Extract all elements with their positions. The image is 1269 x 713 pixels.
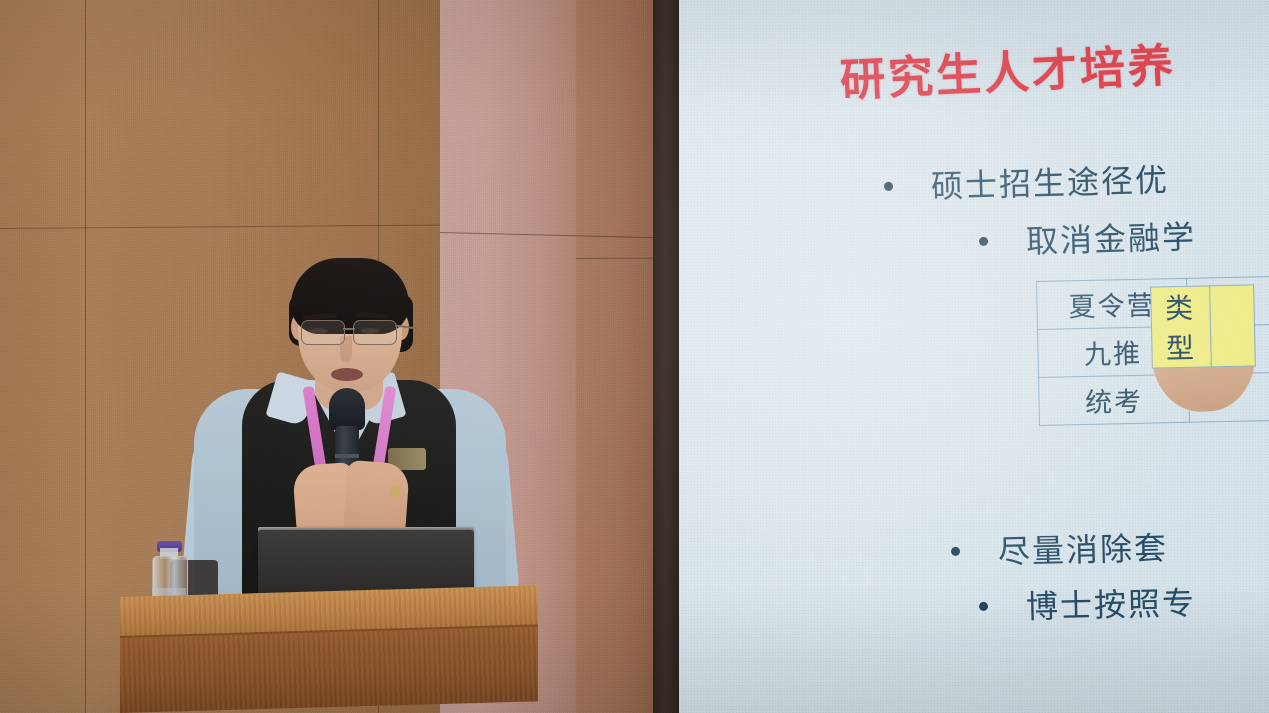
- bullet-dot-icon: [979, 601, 988, 610]
- bullet-dot-icon: [979, 236, 988, 245]
- microphone-head: [329, 388, 365, 430]
- eyeglass-lens-left: [301, 320, 345, 345]
- wall-seam-vertical-1: [85, 0, 86, 713]
- presentation-photo-scene: 研究生人才培养 硕士招生途径优 取消金融学 类型 夏令营 九推 统考: [0, 0, 1269, 713]
- bullet-dot-icon: [884, 181, 893, 190]
- bullet-dot-icon: [951, 546, 960, 555]
- slide-table: 类型 夏令营 九推 统考: [1036, 275, 1269, 426]
- finger-ring: [391, 486, 400, 497]
- slide-bullet-1-text: 硕士招生途径优: [930, 155, 1169, 208]
- slide-bullet-4: 博士按照专: [978, 578, 1196, 629]
- podium-front-panel: [120, 626, 538, 713]
- eyeglass-temple: [395, 324, 417, 329]
- table-header-cell-type: 类型: [1150, 286, 1211, 368]
- slide-bullet-1: 硕士招生途径优: [883, 155, 1169, 209]
- column-side-texture: [576, 0, 656, 713]
- microphone-ring: [335, 454, 359, 458]
- table-header-row: 类型: [1150, 284, 1257, 412]
- slide-title: 研究生人才培养: [839, 29, 1178, 109]
- slide-bullet-2-text: 取消金融学: [1025, 212, 1196, 263]
- column-side-face: [576, 0, 656, 713]
- eyeglass-bridge: [343, 328, 355, 330]
- slide-bullet-3-text: 尽量消除套: [997, 523, 1168, 573]
- podium-front-grain: [120, 626, 538, 713]
- eyeglasses: [295, 320, 407, 344]
- eyeglass-lens-right: [353, 320, 397, 345]
- slide-bullet-4-text: 博士按照专: [1025, 578, 1196, 628]
- slide-bullet-3: 尽量消除套: [950, 523, 1168, 574]
- slide-bullet-2: 取消金融学: [978, 212, 1196, 264]
- projection-screen: 研究生人才培养 硕士招生途径优 取消金融学 类型 夏令营 九推 统考: [679, 0, 1269, 713]
- table-header-cell-2: [1209, 285, 1255, 367]
- mouth: [331, 368, 363, 381]
